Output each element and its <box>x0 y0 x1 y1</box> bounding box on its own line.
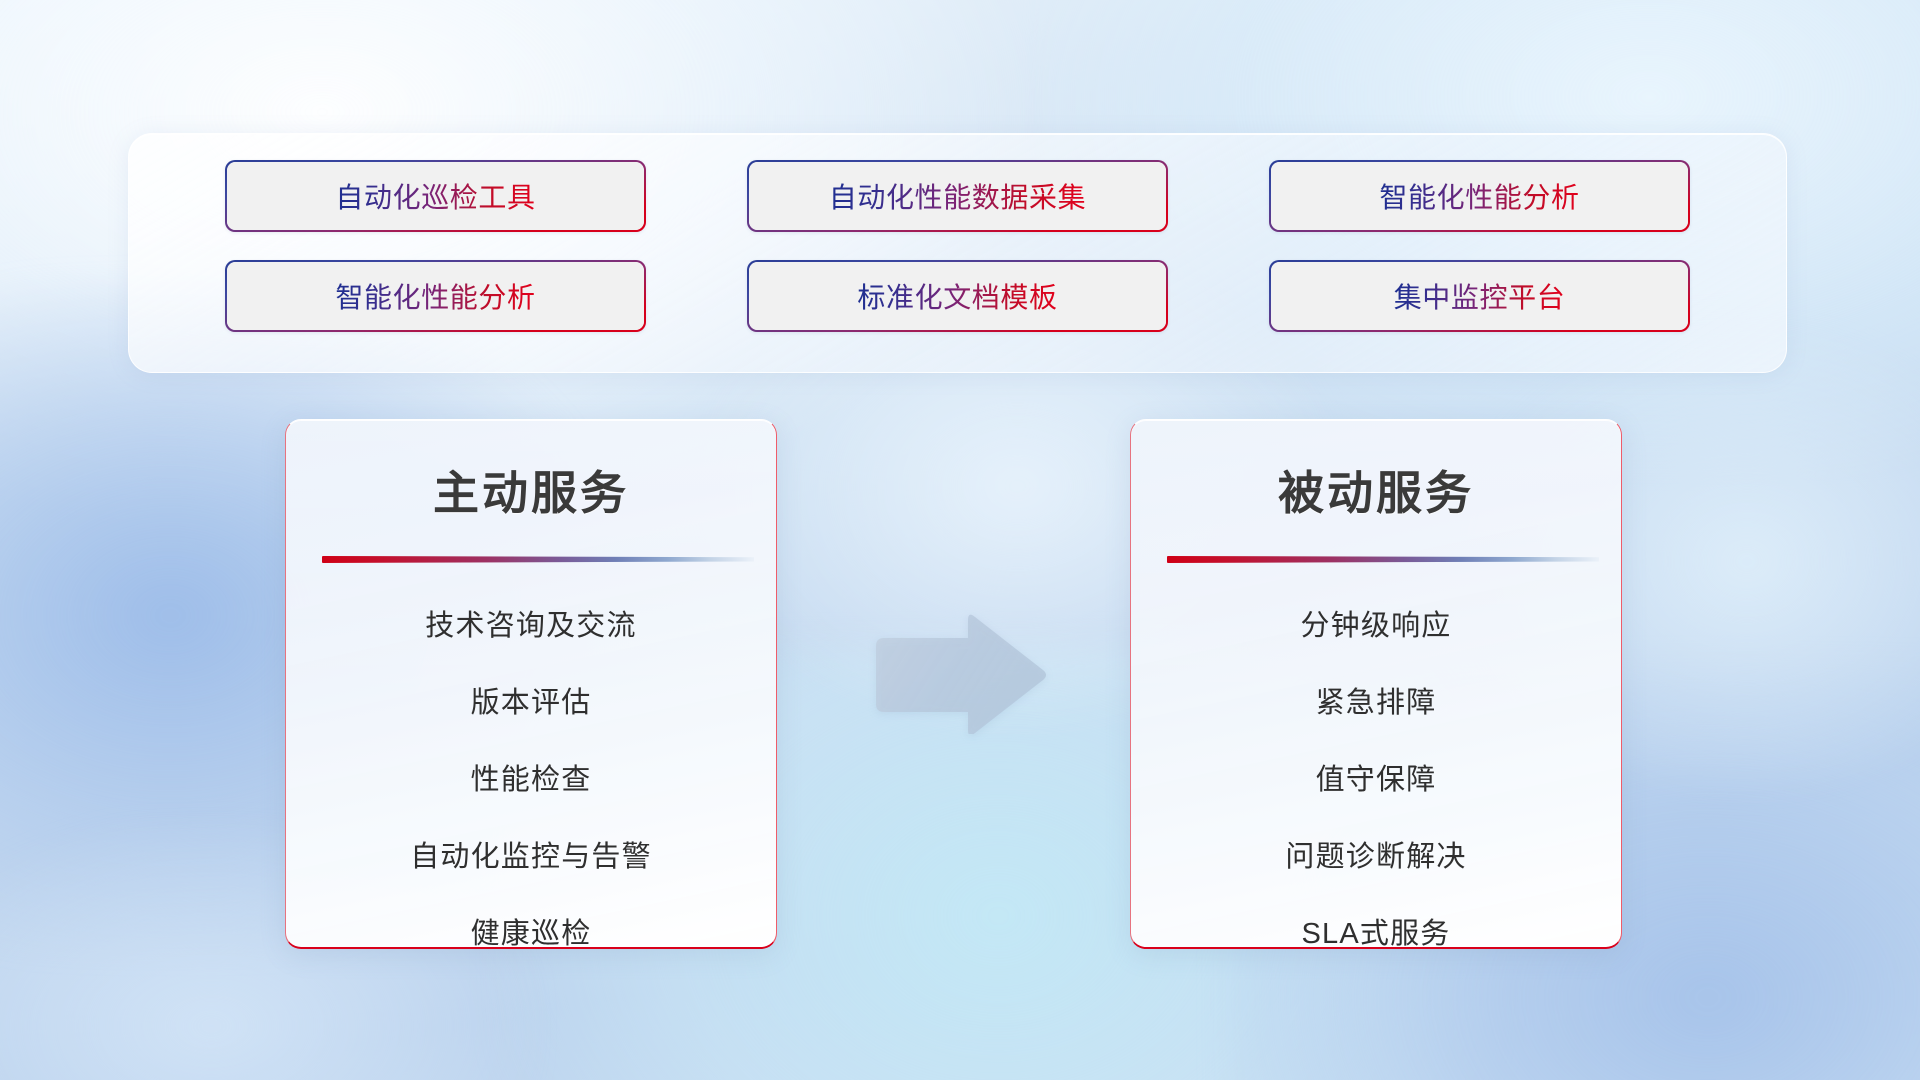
gradient-rule <box>322 556 754 563</box>
list-item: 自动化监控与告警 <box>286 819 776 896</box>
list-item: 技术咨询及交流 <box>286 588 776 665</box>
list-item: 分钟级响应 <box>1131 588 1621 665</box>
arrow-right-icon <box>870 612 1048 734</box>
list-item: 版本评估 <box>286 665 776 742</box>
service-card-divider <box>1131 548 1621 574</box>
list-item: 问题诊断解决 <box>1131 819 1621 896</box>
capability-chip-label: 智能化性能分析 <box>335 276 535 316</box>
list-item: SLA式服务 <box>1131 896 1621 949</box>
capability-chip-label: 自动化性能数据采集 <box>829 176 1086 216</box>
service-card-item-list: 分钟级响应 紧急排障 值守保障 问题诊断解决 SLA式服务 <box>1131 588 1621 949</box>
capability-tag-panel: 自动化巡检工具 自动化性能数据采集 智能化性能分析 智能化性能分析 <box>128 133 1787 373</box>
list-item: 值守保障 <box>1131 742 1621 819</box>
capability-tag-grid: 自动化巡检工具 自动化性能数据采集 智能化性能分析 智能化性能分析 <box>129 134 1786 372</box>
service-card-reactive[interactable]: 被动服务 分钟级响应 紧急排障 值守保障 问题诊断解决 SLA式服务 <box>1130 419 1622 949</box>
capability-chip-label: 标准化文档模板 <box>857 276 1057 316</box>
capability-chip-automated-inspection-tool[interactable]: 自动化巡检工具 <box>225 160 646 232</box>
gradient-rule <box>1167 556 1599 563</box>
capability-chip-surface: 智能化性能分析 <box>1271 162 1689 231</box>
service-card-title: 被动服务 <box>1131 420 1621 523</box>
capability-chip-label: 自动化巡检工具 <box>335 176 535 216</box>
capability-chip-automated-performance-data-collection[interactable]: 自动化性能数据采集 <box>747 160 1168 232</box>
capability-chip-standardized-document-template[interactable]: 标准化文档模板 <box>747 260 1168 332</box>
list-item: 健康巡检 <box>286 896 776 949</box>
capability-chip-centralized-monitoring-platform[interactable]: 集中监控平台 <box>1269 260 1690 332</box>
capability-chip-surface: 自动化性能数据采集 <box>749 162 1167 231</box>
service-card-title: 主动服务 <box>286 420 776 523</box>
capability-chip-surface: 集中监控平台 <box>1271 262 1689 331</box>
capability-chip-label: 集中监控平台 <box>1394 276 1566 316</box>
capability-chip-label: 智能化性能分析 <box>1379 176 1579 216</box>
service-card-item-list: 技术咨询及交流 版本评估 性能检查 自动化监控与告警 健康巡检 <box>286 588 776 949</box>
capability-chip-intelligent-performance-analysis-top[interactable]: 智能化性能分析 <box>1269 160 1690 232</box>
slide-stage: 自动化巡检工具 自动化性能数据采集 智能化性能分析 智能化性能分析 <box>0 0 1920 1080</box>
list-item: 紧急排障 <box>1131 665 1621 742</box>
capability-chip-intelligent-performance-analysis-bottom[interactable]: 智能化性能分析 <box>225 260 646 332</box>
capability-chip-surface: 自动化巡检工具 <box>227 162 645 231</box>
list-item: 性能检查 <box>286 742 776 819</box>
capability-chip-surface: 智能化性能分析 <box>227 262 645 331</box>
service-card-proactive[interactable]: 主动服务 技术咨询及交流 版本评估 性能检查 自动化监控与告警 健康巡检 <box>285 419 777 949</box>
capability-chip-surface: 标准化文档模板 <box>749 262 1167 331</box>
service-card-divider <box>286 548 776 574</box>
